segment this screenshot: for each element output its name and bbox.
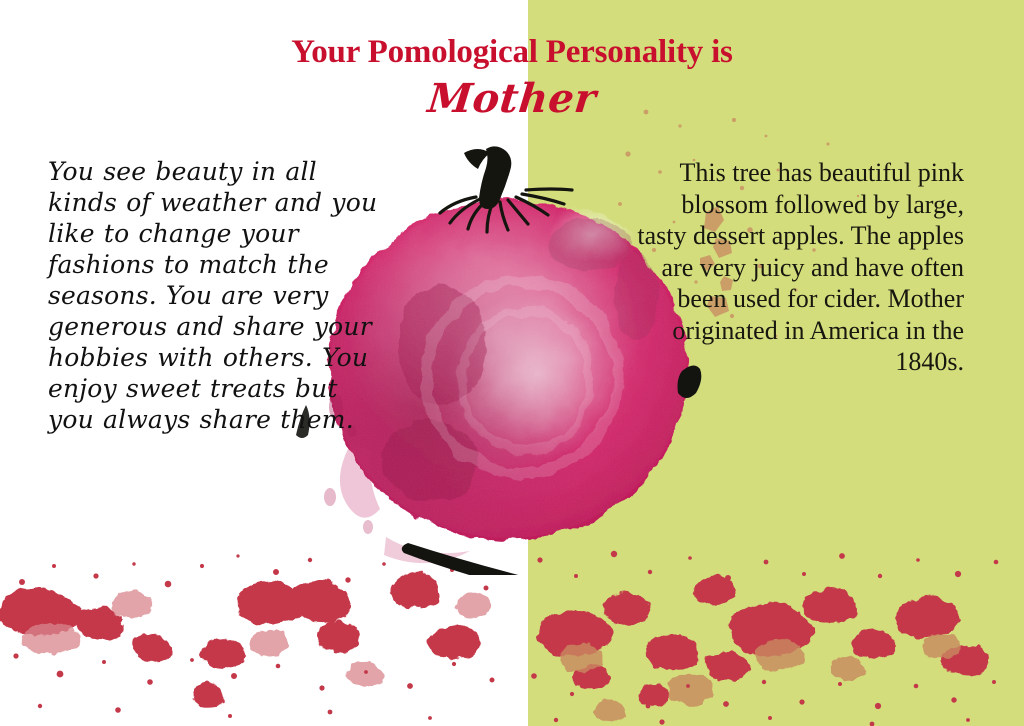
poster-canvas: Your Pomological Personality is Mother [0, 0, 1024, 726]
left-description-text: You see beauty in all kinds of weather a… [48, 156, 378, 435]
page-title: Your Pomological Personality is [0, 33, 1024, 71]
right-description-text: This tree has beautiful pink blossom fol… [628, 157, 964, 378]
apple-variety-name: Mother [0, 75, 1024, 123]
